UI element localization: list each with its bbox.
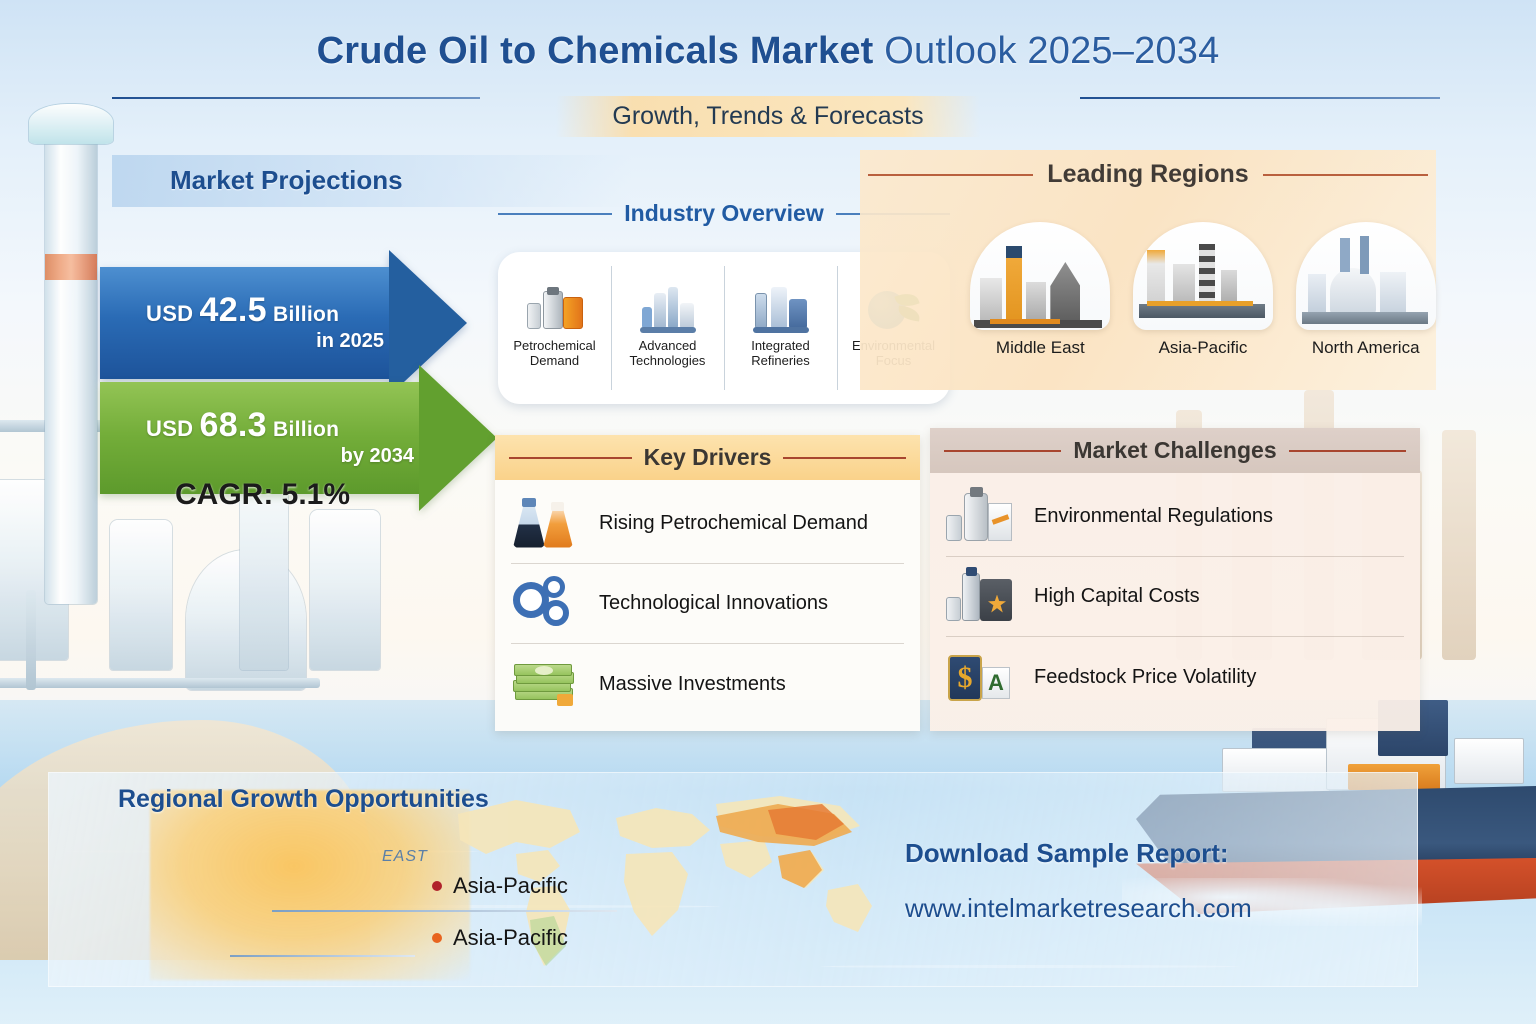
key-driver-label: Rising Petrochemical Demand [599, 512, 868, 535]
storage-tank [110, 520, 172, 670]
gears-icon [511, 574, 577, 634]
key-driver-row[interactable]: Massive Investments [511, 644, 904, 724]
pipeline [26, 590, 36, 690]
industry-overview-item-label: Advanced Technologies [613, 339, 722, 369]
industry-overview-heading: Industry Overview [624, 200, 823, 227]
market-challenges-panel: Market Challenges Environmental Regulati… [930, 428, 1420, 731]
industry-overview-item[interactable]: Integrated Refineries [724, 252, 837, 404]
integrated-refinery-icon [753, 287, 809, 333]
heading-rule-right [1289, 450, 1406, 452]
key-drivers-panel: Key Drivers Rising Petrochemical Demand … [495, 435, 920, 731]
market-challenges-heading-row: Market Challenges [930, 428, 1420, 473]
market-challenge-label: Environmental Regulations [1034, 505, 1273, 528]
market-challenge-row[interactable]: High Capital Costs [946, 557, 1404, 637]
industry-overview-item[interactable]: Petrochemical Demand [498, 252, 611, 404]
chemical-bag-icon [946, 567, 1012, 627]
leading-region-label: Asia-Pacific [1159, 338, 1248, 358]
page-title-bold: Crude Oil to Chemicals Market [317, 30, 874, 72]
market-challenges-list: Environmental Regulations High Capital C… [930, 473, 1420, 717]
projection-value: 68.3 [200, 406, 267, 444]
projection-value-line: USD 42.5 Billion [146, 293, 390, 329]
spherical-tank [186, 550, 306, 690]
leading-region-item[interactable]: Asia-Pacific [1131, 222, 1276, 358]
leading-region-label: Middle East [996, 338, 1085, 358]
market-challenge-row[interactable]: Environmental Regulations [946, 477, 1404, 557]
key-drivers-list: Rising Petrochemical Demand Technologica… [495, 480, 920, 724]
heading-rule-left [509, 457, 632, 459]
projection-unit: Billion [273, 303, 339, 326]
legend-item[interactable]: Asia-Pacific [432, 873, 568, 899]
projection-currency: USD [146, 416, 193, 441]
refinery-middle-east-icon [970, 222, 1110, 330]
pipeline [0, 678, 320, 688]
legend-label: Asia-Pacific [453, 925, 568, 951]
key-driver-row[interactable]: Technological Innovations [511, 564, 904, 644]
projection-value-line: USD 68.3 Billion [146, 408, 420, 444]
page-subtitle-wrap: Growth, Trends & Forecasts [0, 96, 1536, 137]
heading-rule-right [1263, 174, 1428, 176]
projection-currency: USD [146, 301, 193, 326]
heading-rule-left [944, 450, 1061, 452]
heading-rule-left [498, 213, 612, 215]
legend-item[interactable]: Asia-Pacific [432, 925, 568, 951]
legend-rule [272, 910, 617, 912]
legend-dot-icon [432, 933, 442, 943]
map-east-label: EAST [382, 848, 428, 866]
legend-dot-icon [432, 881, 442, 891]
leading-regions-heading-row: Leading Regions [868, 160, 1428, 189]
key-driver-label: Technological Innovations [599, 592, 828, 615]
cash-stack-icon [511, 654, 577, 714]
industry-overview-item[interactable]: Advanced Technologies [611, 252, 724, 404]
chemical-containers-icon [527, 287, 583, 333]
smokestack-band [45, 254, 97, 280]
key-drivers-heading: Key Drivers [644, 444, 772, 471]
projection-period: by 2034 [146, 445, 420, 468]
projection-value: 42.5 [200, 291, 267, 329]
distillation-column [1442, 430, 1476, 660]
market-challenges-heading: Market Challenges [1073, 437, 1276, 464]
key-drivers-heading-row: Key Drivers [495, 435, 920, 480]
leading-region-label: North America [1312, 338, 1420, 358]
heading-rule-right [783, 457, 906, 459]
projection-arrow-body: USD 42.5 Billion in 2025 [100, 267, 390, 379]
smokestack [45, 134, 97, 604]
leading-regions-heading: Leading Regions [1047, 160, 1248, 189]
ship-container [1454, 738, 1524, 784]
key-driver-label: Massive Investments [599, 673, 786, 696]
market-challenge-label: High Capital Costs [1034, 585, 1200, 608]
download-url[interactable]: www.intelmarketresearch.com [905, 893, 1252, 924]
refinery-plant-icon [640, 287, 696, 333]
download-heading: Download Sample Report: [905, 838, 1229, 869]
page-title: Crude Oil to Chemicals Market Outlook 20… [0, 30, 1536, 73]
chemical-bottle-icon [946, 487, 1012, 547]
market-projections-heading: Market Projections [170, 165, 403, 196]
leading-regions-list: Middle East Asia-Pacific North America [968, 222, 1438, 358]
market-challenge-label: Feedstock Price Volatility [1034, 666, 1256, 689]
market-challenge-row[interactable]: $ A Feedstock Price Volatility [946, 637, 1404, 717]
legend-rule [230, 955, 415, 957]
dollar-drum-icon: $ A [946, 647, 1012, 707]
refinery-north-america-icon [1296, 222, 1436, 330]
projection-period: in 2025 [146, 330, 390, 353]
leading-region-item[interactable]: North America [1293, 222, 1438, 358]
industry-overview-item-label: Integrated Refineries [726, 339, 835, 369]
page-subtitle: Growth, Trends & Forecasts [556, 96, 979, 137]
refinery-asia-pacific-icon [1133, 222, 1273, 330]
legend-label: Asia-Pacific [453, 873, 568, 899]
cagr-value: CAGR: 5.1% [175, 478, 350, 512]
regional-growth-heading: Regional Growth Opportunities [118, 785, 489, 814]
leading-region-item[interactable]: Middle East [968, 222, 1113, 358]
storage-tank [0, 480, 68, 660]
key-driver-row[interactable]: Rising Petrochemical Demand [511, 484, 904, 564]
storage-tank [310, 510, 380, 670]
industry-overview-item-label: Petrochemical Demand [500, 339, 609, 369]
projection-unit: Billion [273, 418, 339, 441]
page-title-light: Outlook 2025–2034 [884, 30, 1219, 72]
heading-rule-left [868, 174, 1033, 176]
arrow-right-icon [419, 365, 497, 511]
flasks-icon [511, 494, 577, 554]
